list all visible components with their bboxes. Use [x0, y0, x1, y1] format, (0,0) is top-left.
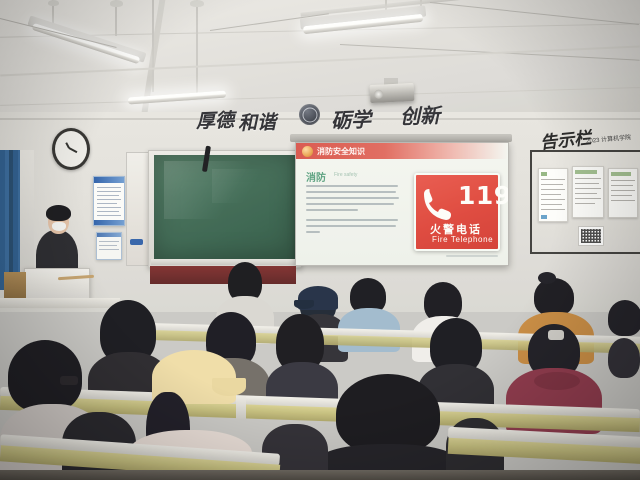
light-rod	[196, 0, 198, 94]
board-sheet	[572, 166, 604, 218]
student-head-front-right	[336, 374, 440, 454]
student-head-right-edge2	[608, 338, 640, 378]
fire-number: 119	[458, 181, 509, 210]
qr-code	[578, 226, 604, 246]
fire-telephone-sign: 119 火警电话 Fire Telephone	[414, 173, 500, 251]
hair-clip	[548, 330, 564, 340]
chalk-eraser	[130, 239, 143, 245]
slide-section-title: 消防	[306, 169, 326, 184]
classroom-photo: 厚德 和谐 砺学 创新	[0, 0, 640, 480]
wall-clock	[52, 128, 90, 170]
slide-section-subtitle: Fire safety	[334, 172, 357, 178]
lectern	[24, 268, 90, 302]
wall-motto-4: 创新	[400, 99, 441, 129]
glasses-icon	[60, 376, 78, 385]
green-chalkboard	[154, 155, 296, 259]
rod-cap	[48, 0, 59, 6]
clock-hand-minute	[69, 147, 78, 153]
student-head-right-edge	[608, 300, 640, 336]
slide-body-line	[306, 185, 398, 187]
blackboard-side-panel	[126, 152, 150, 266]
school-emblem-icon	[299, 104, 320, 125]
ceiling-projector	[370, 83, 415, 103]
cap-brim	[294, 300, 314, 309]
board-sheet	[608, 168, 638, 218]
screen-housing	[290, 134, 512, 142]
bulletin-board	[530, 150, 640, 254]
slide-body-line	[306, 219, 398, 221]
slide-footer-line	[446, 255, 498, 257]
lectern-side	[4, 272, 26, 298]
wall-notice-poster-small	[96, 232, 122, 260]
light-rod	[152, 0, 154, 92]
stage-edge	[0, 298, 120, 308]
slide-body-line	[306, 225, 396, 227]
slide-body-line	[306, 231, 320, 233]
slide-badge-icon	[302, 146, 313, 157]
slide-body-line	[306, 191, 396, 193]
rod-cap	[110, 0, 123, 7]
slide-body-line	[306, 197, 399, 199]
telephone-handset-icon	[422, 185, 458, 225]
wall-base-panel	[150, 266, 296, 284]
projection-screen: 消防安全知识 消防 Fire safety 119 火警电话 Fire Tele…	[295, 142, 509, 266]
presenter-face-mask	[52, 222, 66, 231]
desk-divider	[236, 396, 246, 420]
slide-body-line	[306, 209, 358, 211]
floor	[0, 470, 640, 480]
student-head-orange	[534, 278, 574, 316]
slide-header-title: 消防安全知识	[317, 146, 365, 157]
wall-seam	[0, 118, 640, 120]
clock-hand-hour	[65, 142, 70, 148]
presenter-hair	[46, 205, 71, 221]
window-curtain	[0, 150, 22, 290]
slide-body-line	[306, 203, 394, 205]
wall-motto-2: 和谐	[238, 107, 277, 135]
fire-label-en: Fire Telephone	[432, 235, 493, 244]
slide-content: 消防安全知识 消防 Fire safety 119 火警电话 Fire Tele…	[296, 143, 508, 265]
yellow-cap-brim	[212, 378, 246, 396]
chalk-ledge	[151, 259, 299, 265]
hoodie-hood	[534, 372, 580, 390]
wall-motto-1: 厚德	[196, 105, 235, 133]
rod-cap	[190, 0, 204, 7]
wall-motto-3: 砺学	[331, 103, 372, 133]
board-title: 告示栏	[539, 123, 592, 153]
hair-bun	[538, 272, 556, 284]
wall-notice-poster	[93, 176, 125, 226]
projector-lens	[374, 89, 383, 98]
blackboard-frame	[148, 150, 302, 268]
board-sheet	[538, 168, 568, 222]
